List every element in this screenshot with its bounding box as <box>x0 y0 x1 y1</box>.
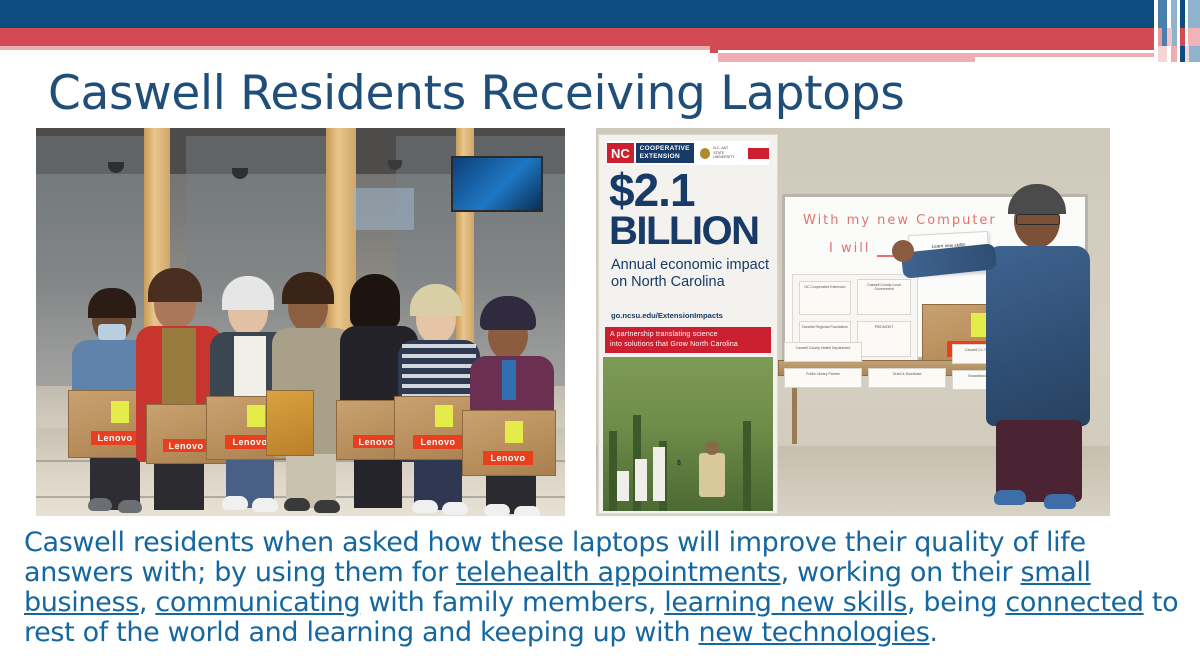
header-stripe-pale-2 <box>1171 46 1177 62</box>
caption-text: , <box>139 587 155 618</box>
hop-plant-4 <box>743 421 751 511</box>
header-stripe-pale-3 <box>1185 46 1189 62</box>
board-doc-4: PIEDMONT <box>857 321 911 357</box>
resident-6-shoe-l <box>412 500 438 513</box>
recipient-shoe-l <box>994 490 1026 505</box>
whiteboard-line-2: I will <box>829 241 870 256</box>
recipient-hand <box>892 240 914 262</box>
partner-text: N.C. A&T STATE UNIVERSITY <box>713 146 745 159</box>
banner-tagline: A partnership translating science into s… <box>605 327 771 353</box>
table-doc-3: Grant & Download <box>868 368 946 388</box>
caption-highlight: learning new skills <box>664 587 907 618</box>
box-tag-1 <box>111 401 129 423</box>
box-tag-6 <box>435 405 453 427</box>
caption-text: , working on their <box>781 557 1021 588</box>
resident-2-blouse <box>162 328 196 408</box>
resident-7-shoe-r <box>514 506 540 516</box>
photo-whiteboard-scene: NC COOPERATIVE EXTENSION N.C. A&T STATE … <box>596 128 1110 516</box>
ncsu-block-logo <box>748 148 769 159</box>
resident-3-shoe-r <box>252 498 278 512</box>
box-logo-7: Lenovo <box>483 451 533 465</box>
caption-highlight: connected <box>1005 587 1143 618</box>
cooperative-extension-wordmark: COOPERATIVE EXTENSION <box>636 143 694 163</box>
banner-subhead: Annual economic impact on North Carolina <box>611 257 771 291</box>
resident-4-shoe-l <box>284 498 310 511</box>
banner-amount: $2.1 <box>609 169 778 211</box>
coop-line-2: EXTENSION <box>640 153 690 161</box>
partner-logos: N.C. A&T STATE UNIVERSITY <box>700 146 769 159</box>
banner-chart-bar-3 <box>653 447 665 501</box>
header-stripe-red-4 <box>1188 28 1200 46</box>
recipient-denim-shirt <box>986 246 1090 426</box>
banner-logo-bar: NC COOPERATIVE EXTENSION N.C. A&T STATE … <box>607 141 769 165</box>
resident-1-mask <box>98 324 126 340</box>
resident-4-shoe-r <box>314 500 340 513</box>
caption-text: with family members, <box>360 587 664 618</box>
caption-text: , being <box>907 587 1005 618</box>
header-stripe-red-1 <box>1158 28 1162 46</box>
board-doc-2: Caswell County Local Government <box>857 279 911 315</box>
board-doc-1: NC Cooperative Extension <box>799 281 851 315</box>
tagline-line-2: into solutions that Grow North Carolina <box>610 340 766 350</box>
box-logo-5: Lenovo <box>353 435 399 448</box>
box-logo-2: Lenovo <box>163 439 209 452</box>
photo-residents-group: Lenovo Lenovo Lenovo <box>36 128 565 516</box>
resident-2-legs <box>154 458 204 510</box>
header-stripe-red-3 <box>1180 28 1185 46</box>
resident-1-shoe-r <box>118 500 142 513</box>
resident-3-tshirt <box>234 336 266 402</box>
recipient-glasses-icon <box>1016 214 1060 225</box>
resident-7-lanyard <box>502 360 516 400</box>
slide-caption: Caswell residents when asked how these l… <box>24 528 1184 648</box>
resident-5-legs <box>354 456 402 508</box>
box-logo-1: Lenovo <box>91 431 139 445</box>
resident-7-shoe-l <box>484 504 510 516</box>
info-screen <box>354 188 414 230</box>
caption-highlight: communicating <box>155 587 360 618</box>
caption-highlight: new technologies <box>699 617 930 648</box>
banner-farmer-figure <box>699 453 725 497</box>
nc-extension-banner: NC COOPERATIVE EXTENSION N.C. A&T STATE … <box>598 134 778 514</box>
caption-text: . <box>929 617 937 648</box>
box-logo-6: Lenovo <box>413 435 463 449</box>
laptop-box-4 <box>266 390 314 456</box>
box-tag-7 <box>505 421 523 443</box>
resident-6-shoe-r <box>442 502 468 515</box>
header-stripe-pale-1 <box>1158 46 1167 62</box>
slide-header-band <box>0 0 1200 60</box>
box-tag-3 <box>247 405 265 427</box>
coop-line-1: COOPERATIVE <box>640 145 690 153</box>
hop-plant-1 <box>609 431 617 511</box>
resident-3-shoe-l <box>222 496 248 510</box>
nc-logo-mark: NC <box>607 143 634 163</box>
university-seal-icon <box>700 148 710 159</box>
header-pale-left-bar <box>0 46 710 50</box>
page-title: Caswell Residents Receiving Laptops <box>48 66 904 122</box>
banner-field-photo: $ <box>603 357 773 511</box>
wall-monitor <box>451 156 543 212</box>
resident-5-hair <box>350 274 400 328</box>
header-red-bar <box>0 28 1200 46</box>
banner-url: go.ncsu.edu/ExtensionImpacts <box>611 311 773 320</box>
banner-chart-bar-1 <box>617 471 629 501</box>
recipient-shoe-r <box>1044 494 1076 509</box>
resident-1-shoe-l <box>88 498 112 511</box>
header-blue-bar <box>0 0 1200 28</box>
header-stripe-red-2 <box>1167 28 1172 46</box>
banner-farmer-head <box>705 441 719 455</box>
table-doc-1: Caswell County Health Department <box>784 342 862 362</box>
banner-chart-bar-2 <box>635 459 647 501</box>
caption-highlight: telehealth appointments <box>456 557 781 588</box>
banner-amount-word: BILLION <box>609 211 778 251</box>
partner-line-2: STATE UNIVERSITY <box>713 151 745 160</box>
tagline-line-1: A partnership translating science <box>610 330 766 340</box>
banner-dollar-symbol: $ <box>677 460 681 467</box>
table-doc-2: Public Library Partner <box>784 368 862 388</box>
laptop-box-7: Lenovo <box>462 410 556 476</box>
whiteboard-line-1: With my new Computer <box>803 213 997 228</box>
